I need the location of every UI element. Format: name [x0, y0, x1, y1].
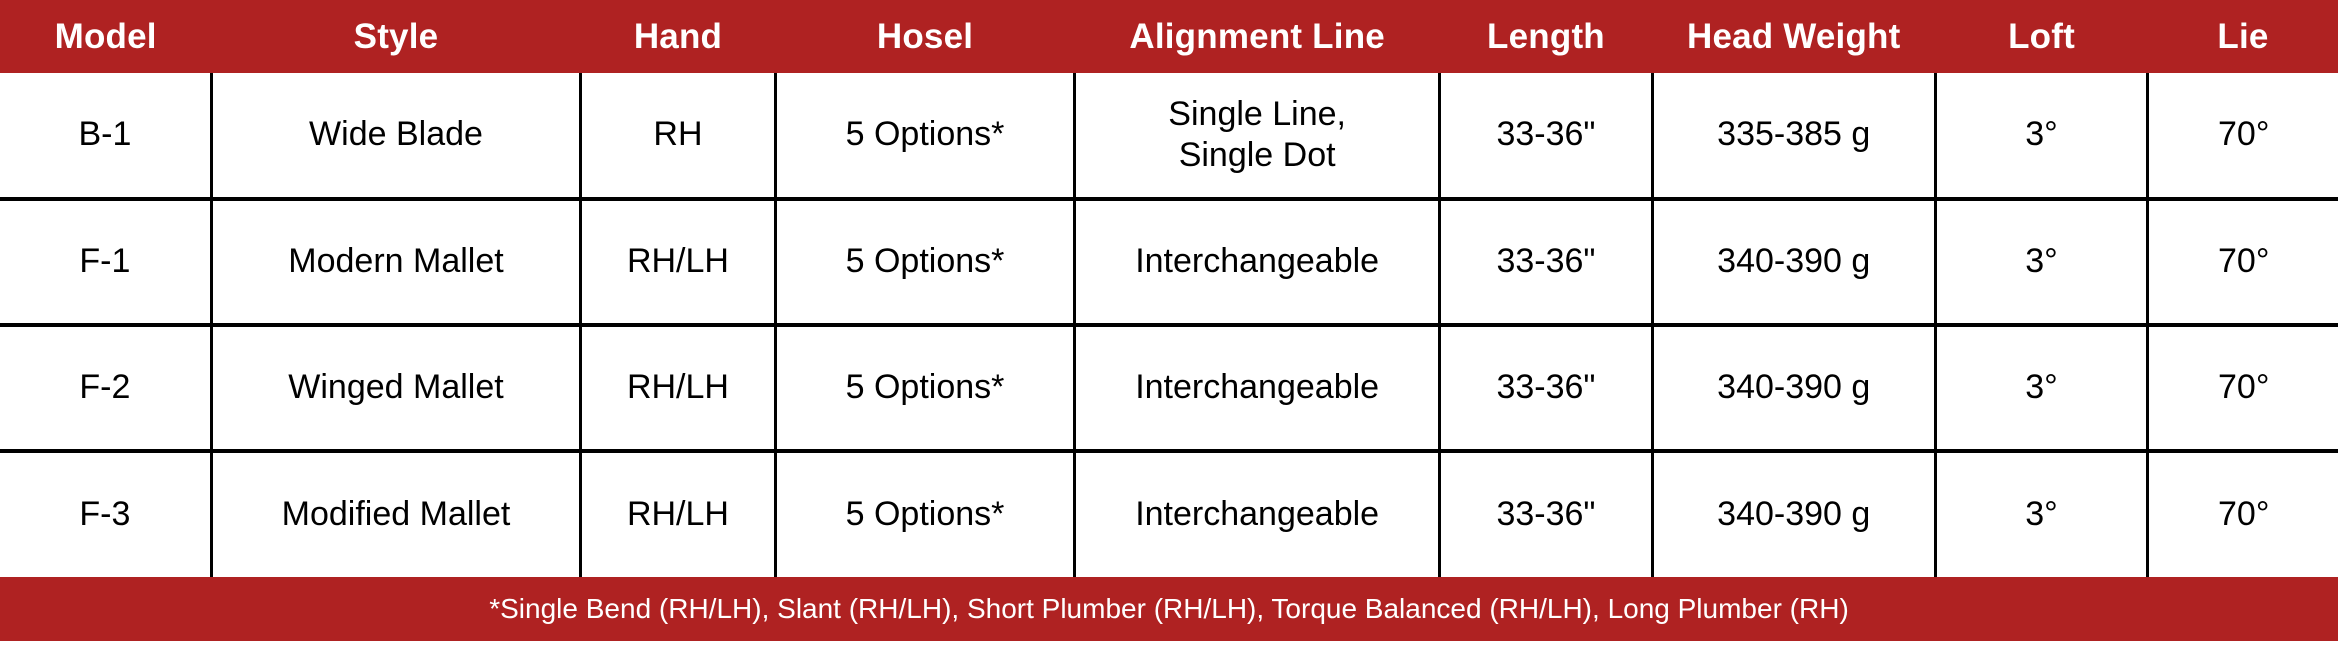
cell-head-weight: 340-390 g [1652, 199, 1935, 325]
column-header-model: Model [0, 0, 211, 73]
cell-length: 33-36" [1440, 73, 1653, 199]
cell-style: Wide Blade [211, 73, 580, 199]
header-row: Model Style Hand Hosel Alignment Line Le… [0, 0, 2338, 73]
cell-hosel: 5 Options* [775, 73, 1074, 199]
cell-length: 33-36" [1440, 451, 1653, 577]
column-header-loft: Loft [1935, 0, 2148, 73]
table-body: B-1 Wide Blade RH 5 Options* Single Line… [0, 73, 2338, 577]
cell-alignment-line: Single Line, Single Dot [1075, 73, 1440, 199]
cell-loft: 3° [1935, 325, 2148, 451]
cell-head-weight: 340-390 g [1652, 325, 1935, 451]
cell-hand: RH/LH [581, 199, 776, 325]
cell-model: F-1 [0, 199, 211, 325]
cell-hand: RH/LH [581, 451, 776, 577]
table-row: B-1 Wide Blade RH 5 Options* Single Line… [0, 73, 2338, 199]
table-row: F-2 Winged Mallet RH/LH 5 Options* Inter… [0, 325, 2338, 451]
cell-length: 33-36" [1440, 325, 1653, 451]
cell-model: B-1 [0, 73, 211, 199]
alignment-line-part-2: Single Dot [1084, 135, 1430, 176]
putter-spec-table-container: Model Style Hand Hosel Alignment Line Le… [0, 0, 2338, 662]
cell-loft: 3° [1935, 73, 2148, 199]
cell-lie: 70° [2148, 451, 2338, 577]
cell-model: F-3 [0, 451, 211, 577]
column-header-length: Length [1440, 0, 1653, 73]
footnote-row: *Single Bend (RH/LH), Slant (RH/LH), Sho… [0, 577, 2338, 641]
cell-style: Winged Mallet [211, 325, 580, 451]
cell-lie: 70° [2148, 73, 2338, 199]
cell-length: 33-36" [1440, 199, 1653, 325]
column-header-hosel: Hosel [775, 0, 1074, 73]
cell-hosel: 5 Options* [775, 199, 1074, 325]
cell-model: F-2 [0, 325, 211, 451]
table-header: Model Style Hand Hosel Alignment Line Le… [0, 0, 2338, 73]
cell-loft: 3° [1935, 451, 2148, 577]
column-header-head-weight: Head Weight [1652, 0, 1935, 73]
cell-loft: 3° [1935, 199, 2148, 325]
cell-head-weight: 340-390 g [1652, 451, 1935, 577]
cell-alignment-line: Interchangeable [1075, 199, 1440, 325]
column-header-style: Style [211, 0, 580, 73]
cell-style: Modified Mallet [211, 451, 580, 577]
cell-hosel: 5 Options* [775, 451, 1074, 577]
column-header-hand: Hand [581, 0, 776, 73]
table-row: F-3 Modified Mallet RH/LH 5 Options* Int… [0, 451, 2338, 577]
cell-lie: 70° [2148, 325, 2338, 451]
cell-alignment-line: Interchangeable [1075, 451, 1440, 577]
column-header-lie: Lie [2148, 0, 2338, 73]
cell-style: Modern Mallet [211, 199, 580, 325]
putter-specification-table: Model Style Hand Hosel Alignment Line Le… [0, 0, 2338, 641]
cell-lie: 70° [2148, 199, 2338, 325]
hosel-options-footnote: *Single Bend (RH/LH), Slant (RH/LH), Sho… [0, 577, 2338, 641]
cell-hosel: 5 Options* [775, 325, 1074, 451]
alignment-line-part-1: Single Line, [1084, 94, 1430, 135]
cell-alignment-line-text: Single Line, Single Dot [1084, 94, 1430, 177]
table-footer: *Single Bend (RH/LH), Slant (RH/LH), Sho… [0, 577, 2338, 641]
cell-alignment-line: Interchangeable [1075, 325, 1440, 451]
column-header-alignment-line: Alignment Line [1075, 0, 1440, 73]
table-row: F-1 Modern Mallet RH/LH 5 Options* Inter… [0, 199, 2338, 325]
cell-head-weight: 335-385 g [1652, 73, 1935, 199]
cell-hand: RH [581, 73, 776, 199]
cell-hand: RH/LH [581, 325, 776, 451]
